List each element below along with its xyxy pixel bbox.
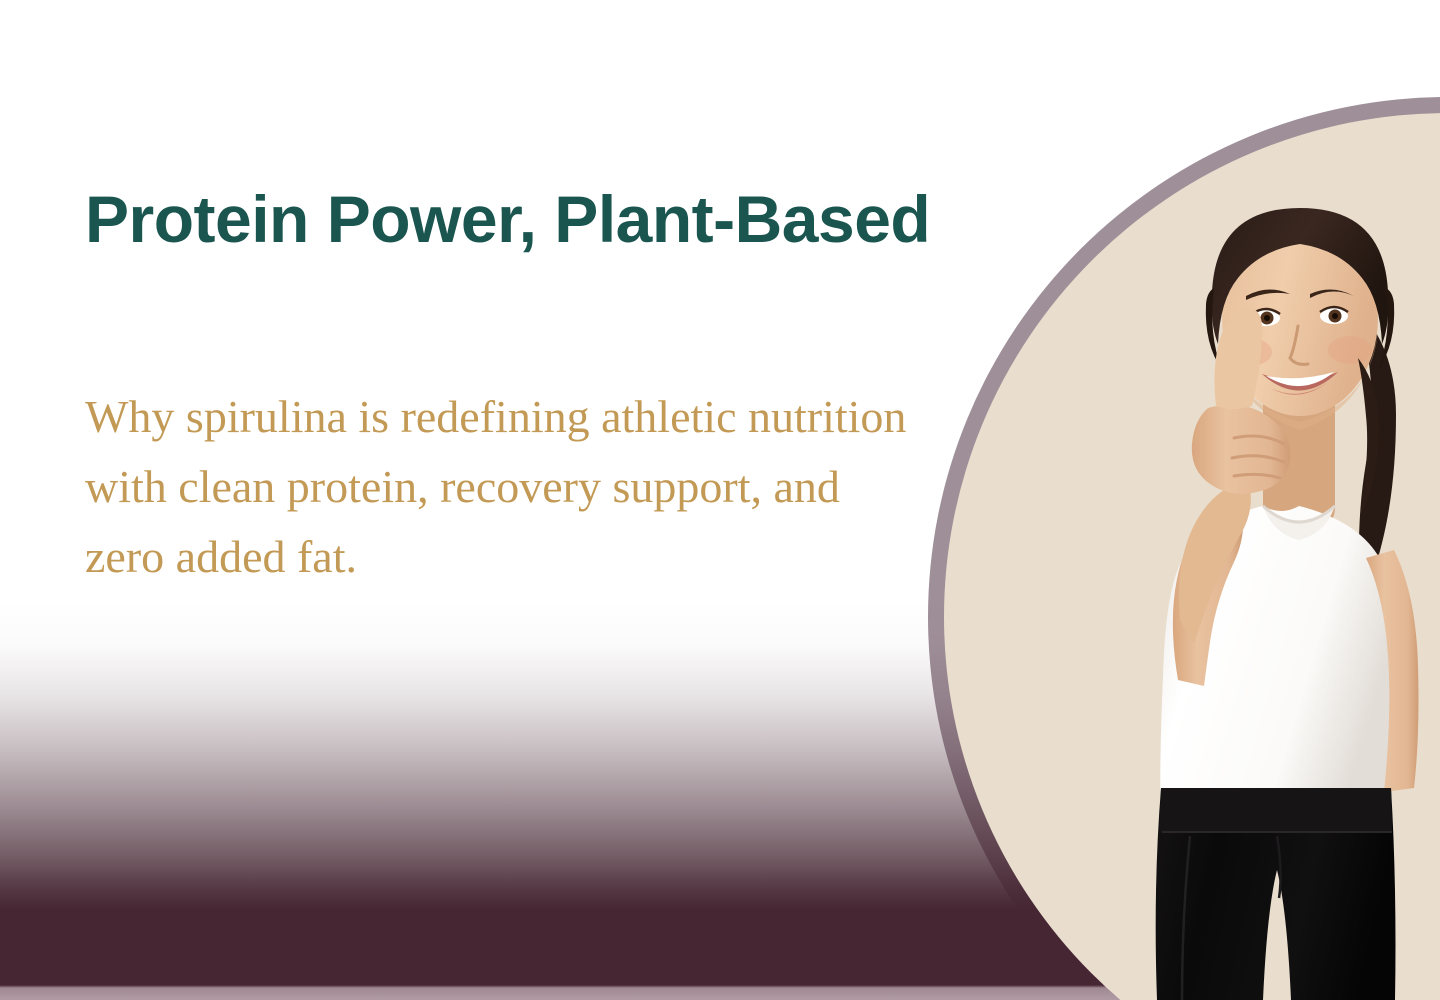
page-title: Protein Power, Plant-Based bbox=[85, 185, 925, 254]
leggings-waistband bbox=[1160, 788, 1392, 832]
pupil-left bbox=[1264, 315, 1270, 321]
text-content-block: Protein Power, Plant-Based Why spirulina… bbox=[85, 185, 925, 592]
cheek-right bbox=[1328, 336, 1372, 364]
slide-canvas: Protein Power, Plant-Based Why spirulina… bbox=[0, 0, 1440, 1000]
hero-photo-woman-thumbs-up bbox=[1058, 120, 1440, 1000]
pupil-right bbox=[1332, 313, 1338, 319]
subtitle-text: Why spirulina is redefining athletic nut… bbox=[85, 254, 915, 592]
